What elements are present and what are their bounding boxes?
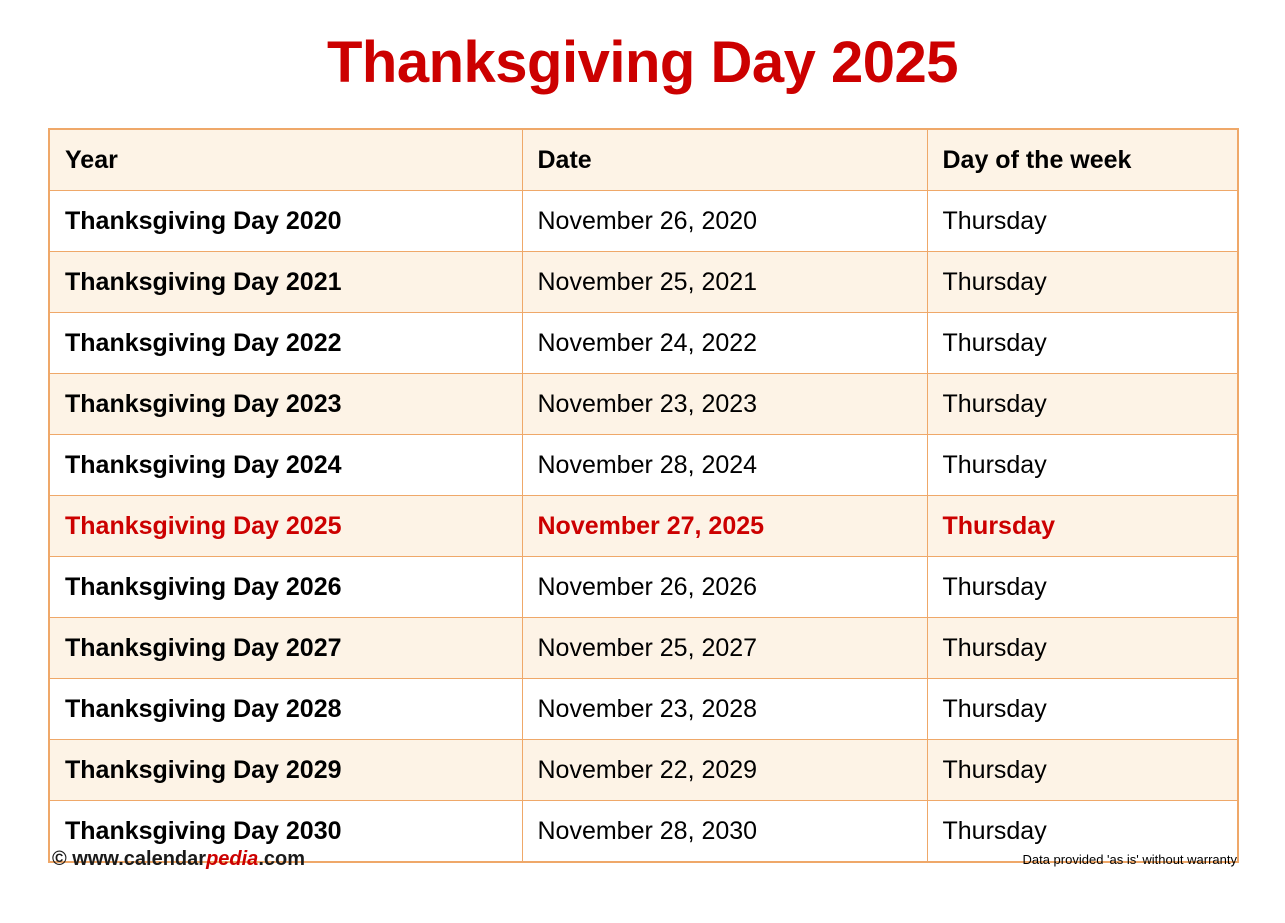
cell-day-of-week: Thursday <box>927 191 1238 252</box>
cell-date: November 28, 2024 <box>522 435 927 496</box>
cell-day-of-week: Thursday <box>927 557 1238 618</box>
cell-date: November 24, 2022 <box>522 313 927 374</box>
table-row: Thanksgiving Day 2022November 24, 2022Th… <box>49 313 1238 374</box>
calendar-page: Thanksgiving Day 2025 Year Date Day of t… <box>0 0 1285 923</box>
cell-year: Thanksgiving Day 2020 <box>49 191 522 252</box>
disclaimer-text: Data provided 'as is' without warranty <box>1022 852 1237 867</box>
copyright-notice: © www.calendarpedia.com <box>52 848 305 871</box>
cell-year: Thanksgiving Day 2026 <box>49 557 522 618</box>
page-footer: © www.calendarpedia.com Data provided 'a… <box>48 848 1237 880</box>
cell-year: Thanksgiving Day 2024 <box>49 435 522 496</box>
site-suffix: .com <box>258 848 305 870</box>
table-row: Thanksgiving Day 2026November 26, 2026Th… <box>49 557 1238 618</box>
site-brand: pedia <box>206 848 258 870</box>
column-header-date: Date <box>522 129 927 191</box>
cell-date: November 23, 2023 <box>522 374 927 435</box>
cell-date: November 27, 2025 <box>522 496 927 557</box>
cell-date: November 25, 2027 <box>522 618 927 679</box>
cell-day-of-week: Thursday <box>927 435 1238 496</box>
cell-date: November 22, 2029 <box>522 740 927 801</box>
table-row: Thanksgiving Day 2020November 26, 2020Th… <box>49 191 1238 252</box>
cell-year: Thanksgiving Day 2022 <box>49 313 522 374</box>
cell-date: November 26, 2026 <box>522 557 927 618</box>
page-title: Thanksgiving Day 2025 <box>0 0 1285 92</box>
cell-year: Thanksgiving Day 2027 <box>49 618 522 679</box>
cell-day-of-week: Thursday <box>927 496 1238 557</box>
cell-date: November 23, 2028 <box>522 679 927 740</box>
cell-year: Thanksgiving Day 2029 <box>49 740 522 801</box>
cell-date: November 25, 2021 <box>522 252 927 313</box>
cell-year: Thanksgiving Day 2021 <box>49 252 522 313</box>
copyright-symbol: © <box>52 848 67 870</box>
column-header-year: Year <box>49 129 522 191</box>
table-row: Thanksgiving Day 2027November 25, 2027Th… <box>49 618 1238 679</box>
holiday-table-container: Year Date Day of the week Thanksgiving D… <box>48 128 1237 863</box>
site-prefix: www.calendar <box>67 848 206 870</box>
cell-day-of-week: Thursday <box>927 313 1238 374</box>
table-row: Thanksgiving Day 2029November 22, 2029Th… <box>49 740 1238 801</box>
table-body: Thanksgiving Day 2020November 26, 2020Th… <box>49 191 1238 863</box>
cell-day-of-week: Thursday <box>927 618 1238 679</box>
cell-year: Thanksgiving Day 2025 <box>49 496 522 557</box>
cell-day-of-week: Thursday <box>927 679 1238 740</box>
table-row: Thanksgiving Day 2024November 28, 2024Th… <box>49 435 1238 496</box>
table-header-row: Year Date Day of the week <box>49 129 1238 191</box>
table-row: Thanksgiving Day 2021November 25, 2021Th… <box>49 252 1238 313</box>
column-header-day-of-week: Day of the week <box>927 129 1238 191</box>
cell-day-of-week: Thursday <box>927 374 1238 435</box>
cell-date: November 26, 2020 <box>522 191 927 252</box>
cell-year: Thanksgiving Day 2023 <box>49 374 522 435</box>
table-row: Thanksgiving Day 2028November 23, 2028Th… <box>49 679 1238 740</box>
table-row-highlighted: Thanksgiving Day 2025November 27, 2025Th… <box>49 496 1238 557</box>
table-row: Thanksgiving Day 2023November 23, 2023Th… <box>49 374 1238 435</box>
cell-day-of-week: Thursday <box>927 740 1238 801</box>
table-header: Year Date Day of the week <box>49 129 1238 191</box>
cell-day-of-week: Thursday <box>927 252 1238 313</box>
holiday-table: Year Date Day of the week Thanksgiving D… <box>48 128 1239 863</box>
cell-year: Thanksgiving Day 2028 <box>49 679 522 740</box>
